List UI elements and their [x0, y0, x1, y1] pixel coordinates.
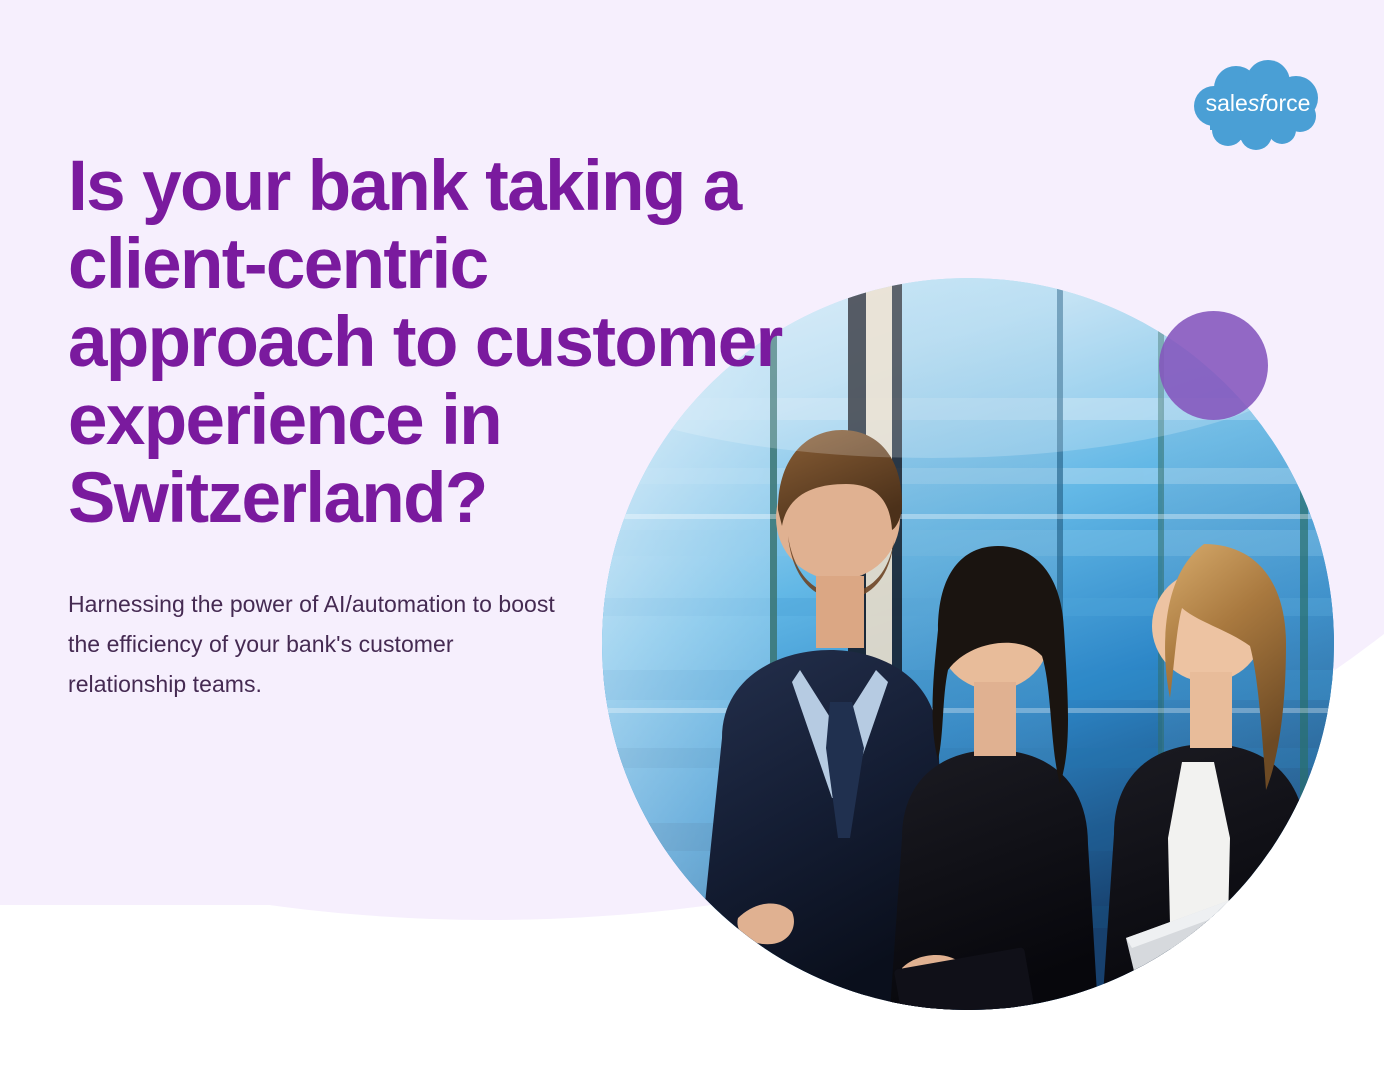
hero-subtitle: Harnessing the power of AI/automation to…: [68, 538, 568, 704]
salesforce-logo[interactable]: salesforce: [1190, 58, 1326, 154]
hero-page: salesforce Is your bank taking a client-…: [0, 0, 1384, 1077]
purple-accent-circle: [1159, 311, 1268, 420]
salesforce-wordmark: salesforce: [1206, 90, 1311, 116]
page-title: Is your bank taking a client-centric app…: [68, 148, 788, 538]
hero-copy-block: Is your bank taking a client-centric app…: [68, 148, 788, 704]
